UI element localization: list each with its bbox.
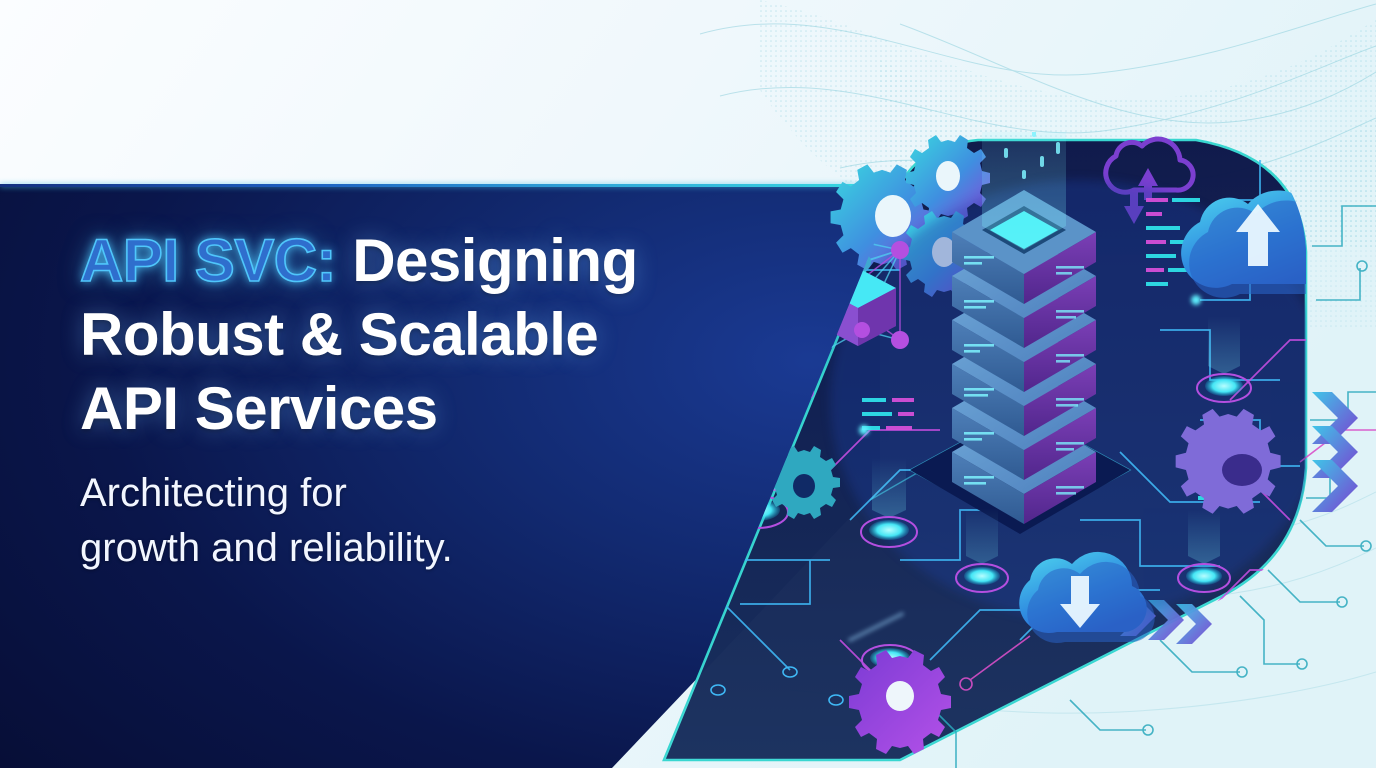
subtitle-line2: growth and reliability. [80, 526, 453, 570]
subtitle-line1: Architecting for [80, 471, 347, 515]
chevron-arrows [1312, 392, 1358, 512]
title-line1-rest: Designing [336, 227, 638, 294]
subtitle: Architecting forgrowth and reliability. [80, 466, 680, 576]
headline-block: API SVC: DesigningRobust & ScalableAPI S… [80, 224, 740, 446]
iso-cube-small [756, 298, 816, 360]
page-title: API SVC: DesigningRobust & ScalableAPI S… [80, 224, 740, 446]
title-line3: API Services [80, 375, 438, 442]
title-line2: Robust & Scalable [80, 301, 598, 368]
title-accent: API SVC: [80, 227, 336, 294]
banner-canvas: API SVC: DesigningRobust & ScalableAPI S… [0, 0, 1376, 768]
